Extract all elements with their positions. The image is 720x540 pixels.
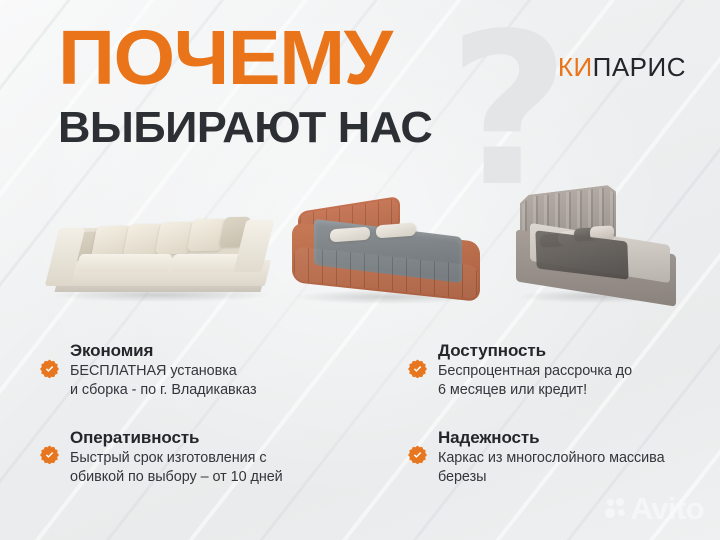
check-badge-icon — [408, 445, 427, 464]
benefit-item-affordability: Доступность Беспроцентная рассрочка до 6… — [408, 341, 632, 400]
brand-logo: КИПАРИС — [558, 52, 686, 83]
check-badge-icon — [40, 445, 59, 464]
benefit-description: БЕСПЛАТНАЯ установка и сборка - по г. Вл… — [70, 362, 257, 400]
benefit-item-reliability: Надежность Каркас из многослойного масси… — [408, 428, 665, 487]
benefit-title: Оперативность — [70, 428, 283, 448]
headline-line-2: ВЫБИРАЮТ НАС — [58, 106, 432, 150]
check-badge-icon — [40, 359, 59, 378]
headline-line-1: ПОЧЕМУ — [58, 22, 436, 96]
benefit-title: Доступность — [438, 341, 632, 361]
bed-pillow — [376, 223, 416, 239]
check-badge-icon — [408, 359, 427, 378]
page-title: ПОЧЕМУ ВЫБИРАЮТ НАС — [58, 22, 425, 150]
sofa-seat-left — [76, 254, 172, 272]
brand-logo-dark: ПАРИС — [593, 52, 686, 82]
product-image-sofa — [44, 202, 274, 310]
bed-pillow — [330, 227, 370, 243]
benefit-description: Быстрый срок изготовления с обивкой по в… — [70, 449, 283, 487]
product-image-grey-bed — [508, 190, 684, 310]
avito-watermark-text: Avito — [631, 493, 704, 524]
avito-dots-icon — [605, 498, 627, 520]
product-gallery — [0, 180, 720, 325]
benefit-item-economy: Экономия БЕСПЛАТНАЯ установка и сборка -… — [40, 341, 257, 400]
benefit-description: Беспроцентная рассрочка до 6 месяцев или… — [438, 362, 632, 400]
promo-poster: ? ПОЧЕМУ ВЫБИРАЮТ НАС КИПАРИС — [0, 0, 720, 540]
benefit-title: Экономия — [70, 341, 257, 361]
avito-watermark: Avito — [605, 493, 704, 524]
benefit-item-speed: Оперативность Быстрый срок изготовления … — [40, 428, 283, 487]
benefit-description: Каркас из многослойного массива березы — [438, 449, 665, 487]
product-image-terracotta-bed — [288, 198, 484, 310]
benefit-title: Надежность — [438, 428, 665, 448]
brand-logo-accent: КИ — [558, 52, 593, 82]
